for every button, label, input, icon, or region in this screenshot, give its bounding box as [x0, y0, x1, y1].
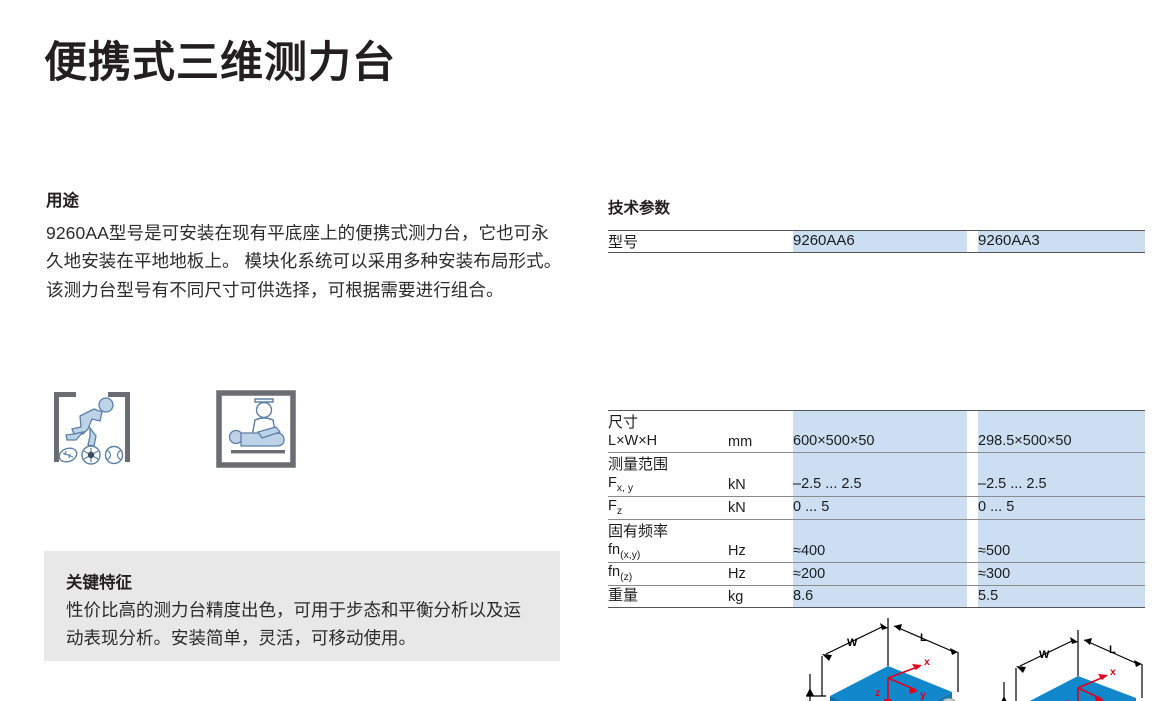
spec-unit: Hz	[728, 541, 788, 563]
column-gap	[967, 586, 978, 607]
spec-unit: kg	[728, 586, 788, 607]
sports-athletics-icon	[50, 388, 134, 472]
spec-group-label: 尺寸	[608, 411, 788, 433]
spec-parameter-label: fn(z)	[608, 563, 728, 586]
spec-group-header: 固有频率	[608, 519, 1145, 541]
product-diagrams: W L H	[608, 608, 1140, 701]
purpose-section: 用途 9260AA型号是可安装在现有平底座上的便携式测力台，它也可永久地安装在平…	[46, 190, 566, 304]
spec-value-2: ≈300	[978, 563, 1145, 586]
spec-row: 重量kg8.65.5	[608, 586, 1145, 607]
axis-label-z: z	[1065, 697, 1070, 701]
dimension-label-l: L	[1109, 644, 1116, 656]
key-features-heading: 关键特征	[66, 569, 538, 593]
column-gap	[967, 474, 978, 496]
page-root: 便携式三维测力台 用途 9260AA型号是可安装在现有平底座上的便携式测力台，它…	[0, 0, 1156, 701]
spec-group-fill-1	[793, 411, 967, 433]
model-name-1: 9260AA6	[793, 231, 967, 253]
purpose-heading: 用途	[46, 190, 566, 213]
spec-parameter-label: Fx, y	[608, 474, 728, 496]
specs-header-row: 型号9260AA69260AA3	[608, 231, 1145, 253]
model-name-2: 9260AA3	[978, 231, 1145, 253]
spec-row: FzkN0 ... 50 ... 5	[608, 496, 1145, 519]
spec-group-header: 测量范围	[608, 452, 1145, 474]
column-gap	[967, 231, 978, 253]
column-gap	[967, 496, 978, 519]
page-title: 便携式三维测力台	[44, 40, 396, 87]
spec-value-2: 0 ... 5	[978, 496, 1145, 519]
model-label: 型号	[608, 231, 788, 253]
spec-group-label: 固有频率	[608, 519, 788, 541]
spec-value-1: 8.6	[793, 586, 967, 607]
diagram-9260AA3: W L H	[980, 608, 1156, 701]
spec-group-header: 尺寸	[608, 411, 1145, 433]
axis-label-x: x	[1110, 666, 1116, 678]
spec-parameter-label: L×W×H	[608, 432, 728, 452]
spec-group-label: 测量范围	[608, 452, 788, 474]
purpose-text: 9260AA型号是可安装在现有平底座上的便携式测力台，它也可永久地安装在平地地板…	[46, 219, 566, 304]
dimension-label-w: W	[847, 637, 858, 649]
application-icons	[50, 388, 298, 472]
specs-section: 技术参数 型号9260AA69260AA3尺寸L×W×Hmm600×500×50…	[608, 196, 1140, 701]
spec-parameter-label: 重量	[608, 586, 728, 607]
diagram-area	[608, 253, 1145, 411]
column-gap	[967, 432, 978, 452]
key-features-text: 性价比高的测力台精度出色，可用于步态和平衡分析以及运动表现分析。安装简单，灵活，…	[66, 596, 538, 652]
spec-unit: kN	[728, 474, 788, 496]
column-gap	[967, 519, 978, 541]
dimension-label-w: W	[1039, 649, 1050, 661]
spec-row: fn(z)Hz≈200≈300	[608, 563, 1145, 586]
spec-value-1: 600×500×50	[793, 432, 967, 452]
medical-rehabilitation-icon	[214, 388, 298, 472]
dimension-label-l: L	[920, 632, 927, 644]
spec-row: L×W×Hmm600×500×50298.5×500×50	[608, 432, 1145, 452]
spec-unit: mm	[728, 432, 788, 452]
axis-label-y: y	[920, 689, 926, 701]
specs-heading: 技术参数	[608, 196, 1140, 218]
diagram-9260AA6: W L H	[792, 608, 972, 701]
axis-label-x: x	[924, 656, 930, 668]
spec-value-2: –2.5 ... 2.5	[978, 474, 1145, 496]
spec-row: fn(x,y)Hz≈400≈500	[608, 541, 1145, 563]
column-gap	[967, 411, 978, 433]
spec-value-2: 5.5	[978, 586, 1145, 607]
spec-group-fill-1	[793, 452, 967, 474]
spec-group-fill-2	[978, 519, 1145, 541]
spec-unit: Hz	[728, 563, 788, 586]
spec-row: Fx, ykN–2.5 ... 2.5–2.5 ... 2.5	[608, 474, 1145, 496]
specs-table: 型号9260AA69260AA3尺寸L×W×Hmm600×500×50298.5…	[608, 230, 1145, 608]
spec-group-fill-1	[793, 519, 967, 541]
diagram-spacer-row	[608, 253, 1145, 411]
spec-value-1: ≈400	[793, 541, 967, 563]
spec-value-1: –2.5 ... 2.5	[793, 474, 967, 496]
axis-label-z: z	[875, 687, 880, 699]
spec-value-2: 298.5×500×50	[978, 432, 1145, 452]
key-features-box: 关键特征 性价比高的测力台精度出色，可用于步态和平衡分析以及运动表现分析。安装简…	[44, 551, 560, 661]
spec-unit: kN	[728, 496, 788, 519]
spec-value-2: ≈500	[978, 541, 1145, 563]
column-gap	[967, 563, 978, 586]
column-gap	[967, 541, 978, 563]
spec-value-1: 0 ... 5	[793, 496, 967, 519]
spec-parameter-label: Fz	[608, 496, 728, 519]
spec-parameter-label: fn(x,y)	[608, 541, 728, 563]
spec-group-fill-2	[978, 411, 1145, 433]
column-gap	[967, 452, 978, 474]
spec-group-fill-2	[978, 452, 1145, 474]
spec-value-1: ≈200	[793, 563, 967, 586]
